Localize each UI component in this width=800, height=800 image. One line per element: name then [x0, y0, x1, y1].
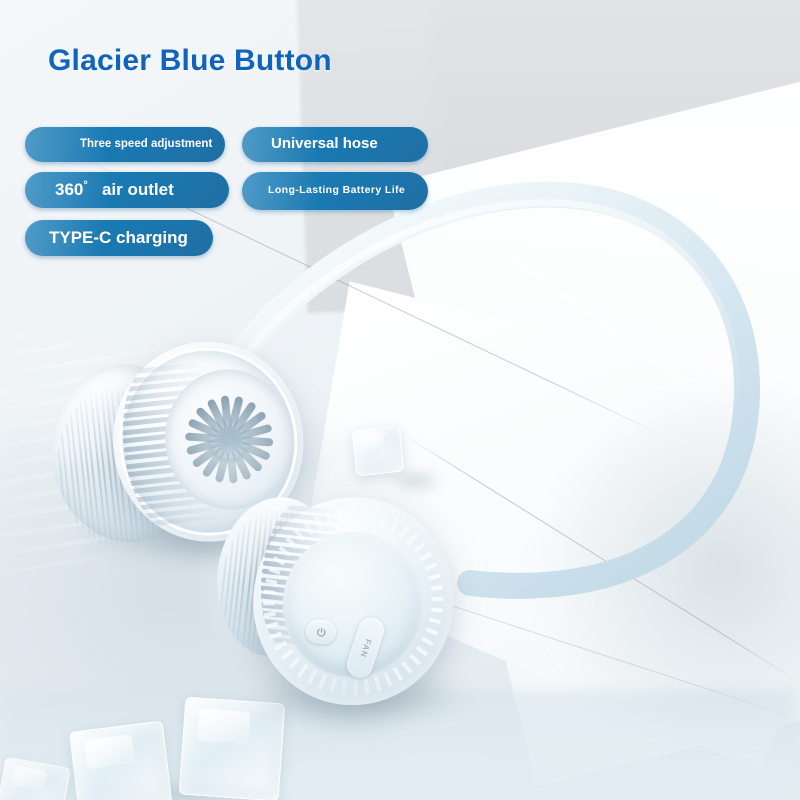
power-icon	[315, 626, 327, 638]
badge-label: TYPE-C charging	[25, 227, 188, 248]
fan-unit-right: FAN	[204, 483, 460, 721]
badge-type-c-charging[interactable]: TYPE-C charging	[25, 220, 213, 256]
ice-cube-center	[352, 426, 405, 477]
fan-right-head: FAN	[243, 487, 464, 715]
badge-universal-hose[interactable]: Universal hose	[242, 127, 428, 162]
fan-speed-button-label: FAN	[358, 637, 372, 658]
badge-label: 360° air outlet	[25, 179, 174, 200]
product-image-canvas: FAN Glacier Blue Button Three speed adju…	[0, 0, 800, 800]
badge-label: Long-Lasting Battery Life	[242, 184, 405, 197]
badge-long-lasting-battery-life[interactable]: Long-Lasting Battery Life	[242, 172, 428, 210]
power-button[interactable]	[305, 618, 337, 645]
page-title: Glacier Blue Button	[48, 44, 332, 78]
badge-label: Three speed adjustment	[25, 137, 212, 151]
badge-label-rest: air outlet	[102, 180, 174, 199]
ice-cube-bottom-left	[69, 721, 173, 800]
badge-label-number: 360	[55, 180, 83, 199]
badge-three-speed-adjustment[interactable]: Three speed adjustment	[25, 127, 225, 162]
badge-label: Universal hose	[242, 135, 378, 154]
badge-360-air-outlet[interactable]: 360° air outlet	[25, 172, 229, 208]
degree-icon: °	[83, 180, 87, 192]
